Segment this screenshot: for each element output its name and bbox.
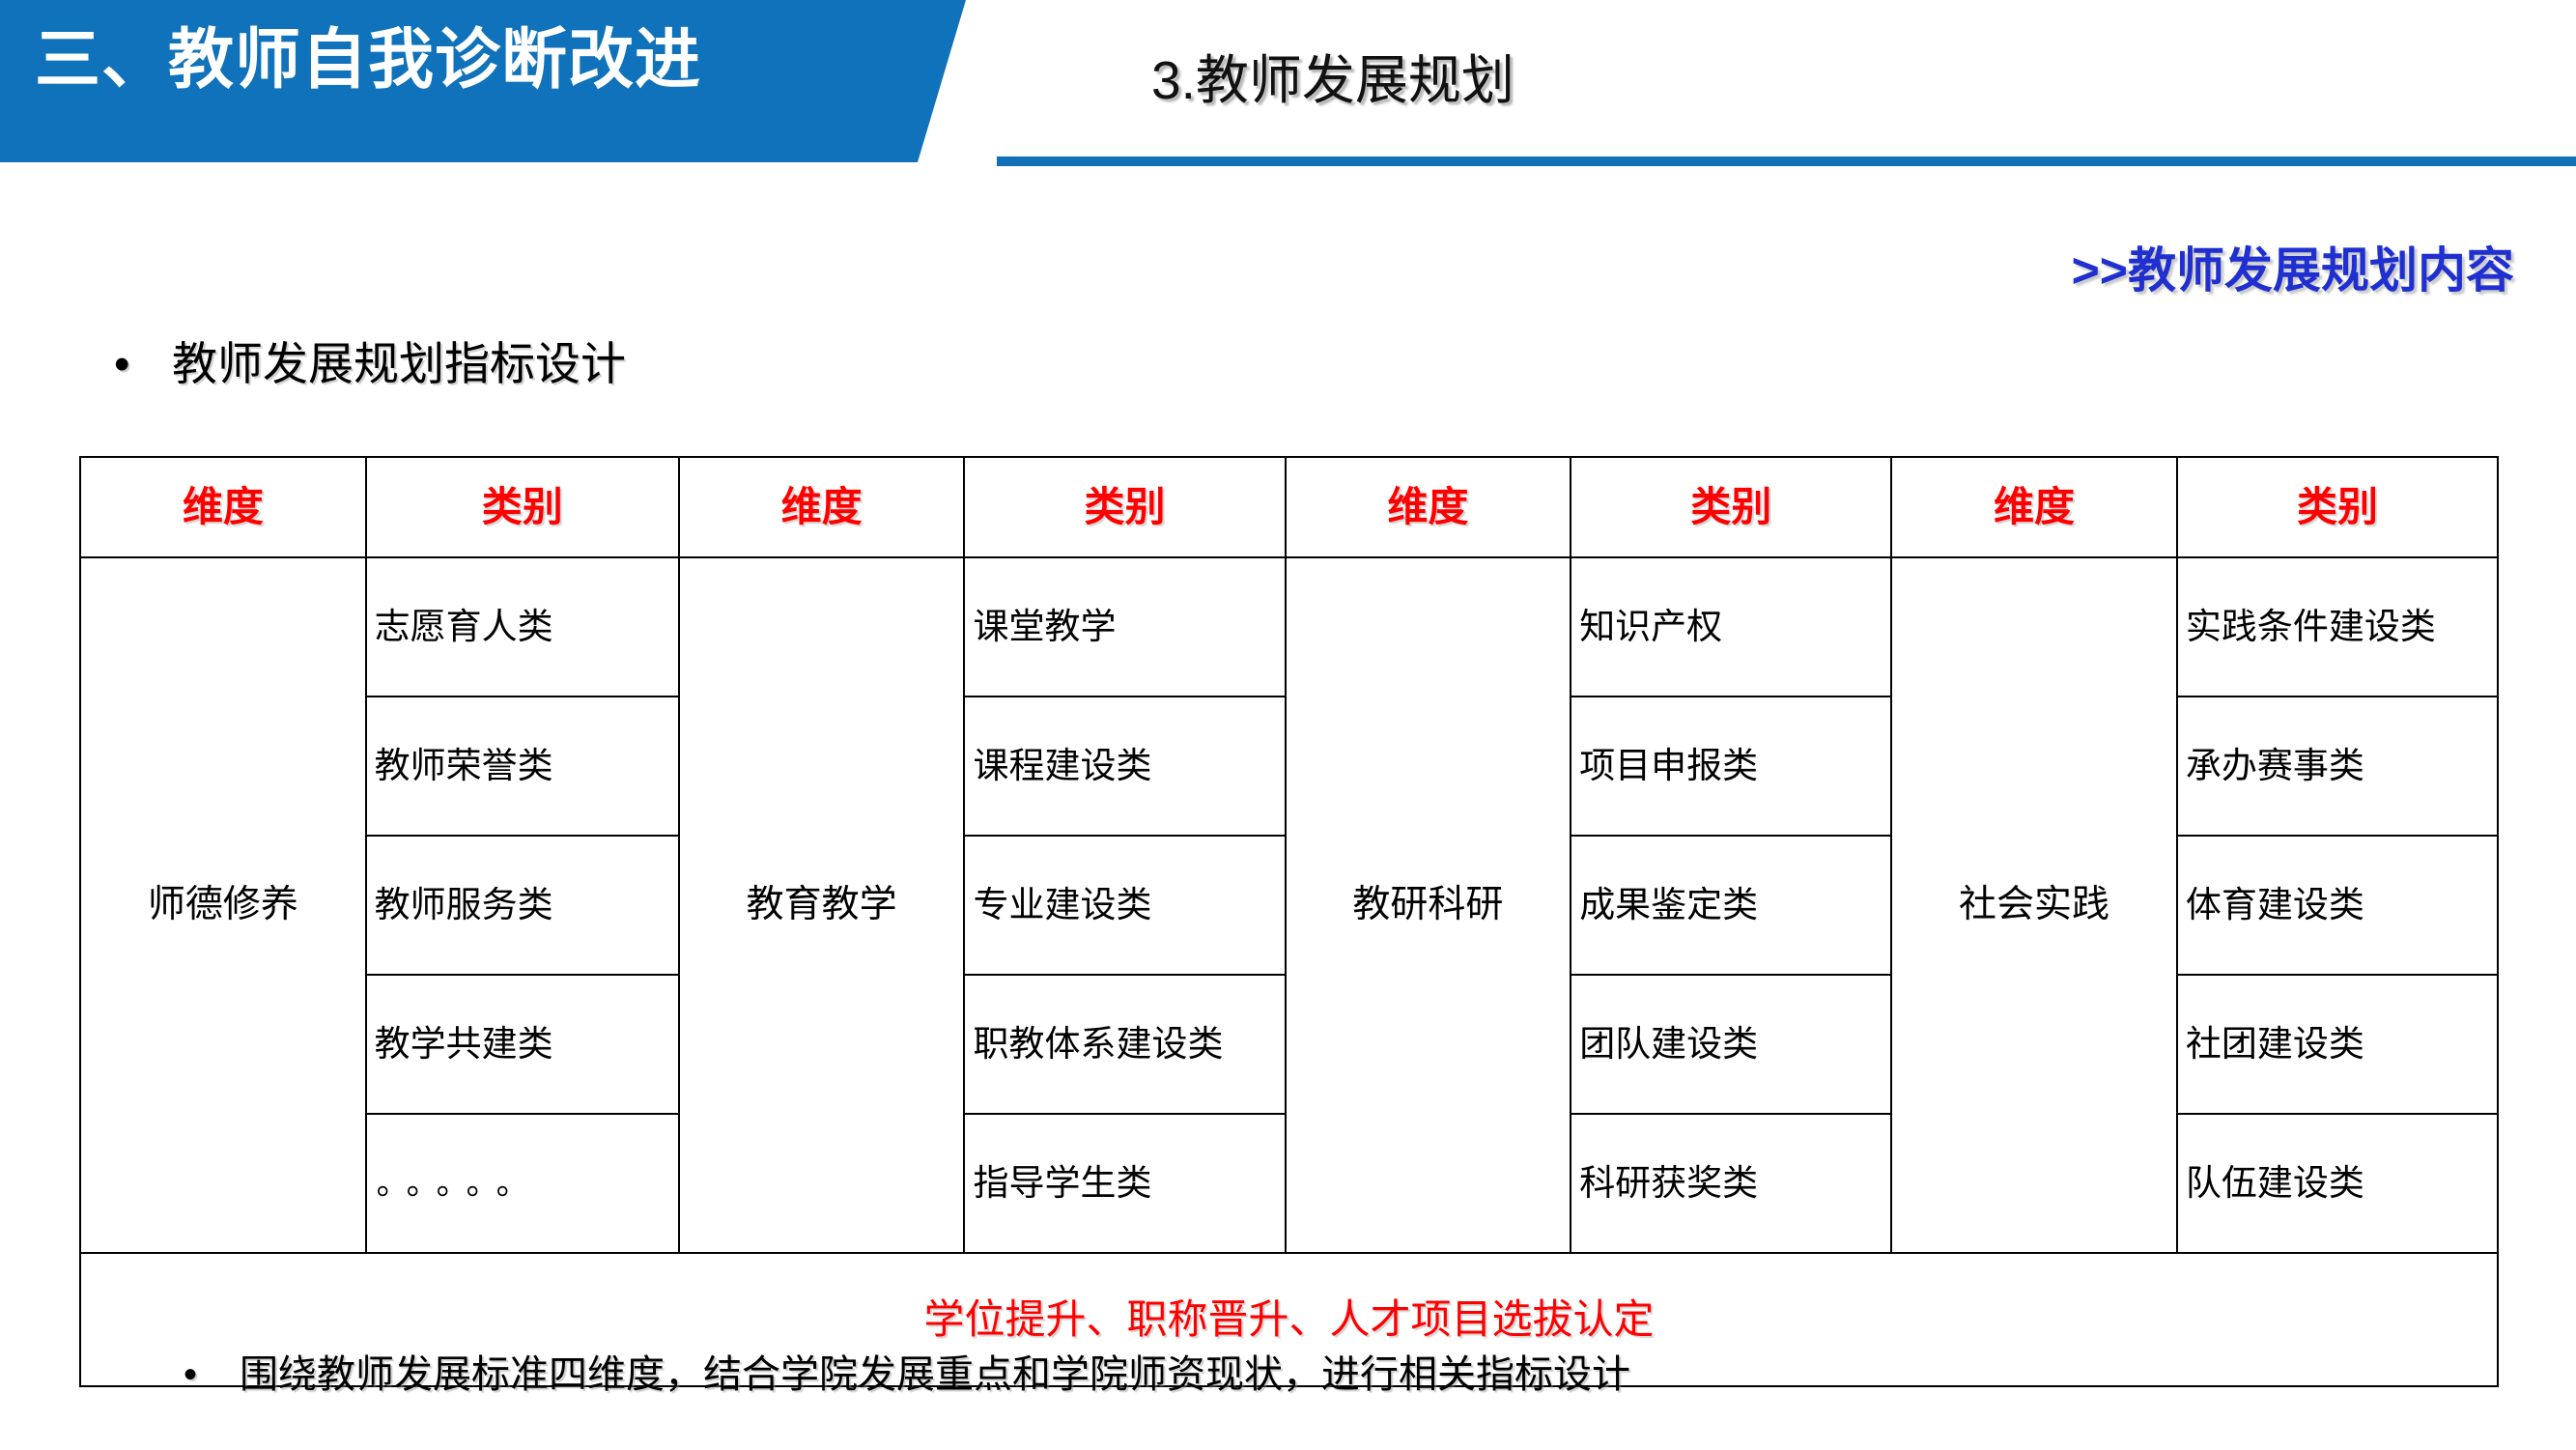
table-header-cell: 维度 bbox=[80, 457, 366, 557]
table-header-cell: 维度 bbox=[1286, 457, 1571, 557]
title-underline-rule bbox=[997, 156, 2576, 166]
category-cell: 教师荣誉类 bbox=[366, 697, 679, 836]
table-header-cell: 类别 bbox=[964, 457, 1285, 557]
category-cell: 教学共建类 bbox=[366, 975, 679, 1114]
dimension-cell: 社会实践 bbox=[1891, 557, 2177, 1253]
table-row: 师德修养 志愿育人类 教育教学 课堂教学 教研科研 知识产权 社会实践 实践条件… bbox=[80, 557, 2498, 697]
category-cell: 职教体系建设类 bbox=[964, 975, 1285, 1114]
category-cell: 指导学生类 bbox=[964, 1114, 1285, 1253]
category-cell: 实践条件建设类 bbox=[2177, 557, 2498, 697]
table-header-cell: 类别 bbox=[2177, 457, 2498, 557]
dimension-cell: 师德修养 bbox=[80, 557, 366, 1253]
category-cell: 教师服务类 bbox=[366, 836, 679, 975]
category-cell: 课堂教学 bbox=[964, 557, 1285, 697]
category-cell: 知识产权 bbox=[1571, 557, 1891, 697]
category-cell: 课程建设类 bbox=[964, 697, 1285, 836]
banner-title: 三、教师自我诊断改进 bbox=[35, 12, 904, 108]
bullet-bottom-label: 围绕教师发展标准四维度，结合学院发展重点和学院师资现状，进行相关指标设计 bbox=[240, 1353, 1630, 1396]
category-cell: 队伍建设类 bbox=[2177, 1114, 2498, 1253]
bullet-bottom-line: •围绕教师发展标准四维度，结合学院发展重点和学院师资现状，进行相关指标设计 bbox=[184, 1343, 1630, 1399]
content-heading: >>教师发展规划内容 bbox=[2072, 232, 2514, 301]
category-cell-ellipsis: 。。。。。 bbox=[366, 1114, 679, 1253]
section-title: 3.教师发展规划 bbox=[1151, 37, 1514, 114]
category-cell: 专业建设类 bbox=[964, 836, 1285, 975]
category-cell: 体育建设类 bbox=[2177, 836, 2498, 975]
indicator-table: 维度 类别 维度 类别 维度 类别 维度 类别 师德修养 志愿育人类 教育教学 … bbox=[79, 456, 2499, 1387]
category-cell: 承办赛事类 bbox=[2177, 697, 2498, 836]
category-cell: 志愿育人类 bbox=[366, 557, 679, 697]
category-cell: 项目申报类 bbox=[1571, 697, 1891, 836]
dimension-cell: 教育教学 bbox=[679, 557, 965, 1253]
category-cell: 社团建设类 bbox=[2177, 975, 2498, 1114]
bullet-marker-icon: • bbox=[114, 337, 172, 390]
dimension-cell: 教研科研 bbox=[1286, 557, 1571, 1253]
category-cell: 团队建设类 bbox=[1571, 975, 1891, 1114]
bullet-top-label: 教师发展规划指标设计 bbox=[172, 338, 626, 389]
table-header-cell: 类别 bbox=[366, 457, 679, 557]
table-header-cell: 维度 bbox=[1891, 457, 2177, 557]
bullet-top-line: •教师发展规划指标设计 bbox=[114, 327, 626, 393]
bullet-marker-icon: • bbox=[184, 1353, 240, 1397]
table-header-cell: 类别 bbox=[1571, 457, 1891, 557]
category-cell: 成果鉴定类 bbox=[1571, 836, 1891, 975]
category-cell: 科研获奖类 bbox=[1571, 1114, 1891, 1253]
table-header-row: 维度 类别 维度 类别 维度 类别 维度 类别 bbox=[80, 457, 2498, 557]
table-header-cell: 维度 bbox=[679, 457, 965, 557]
